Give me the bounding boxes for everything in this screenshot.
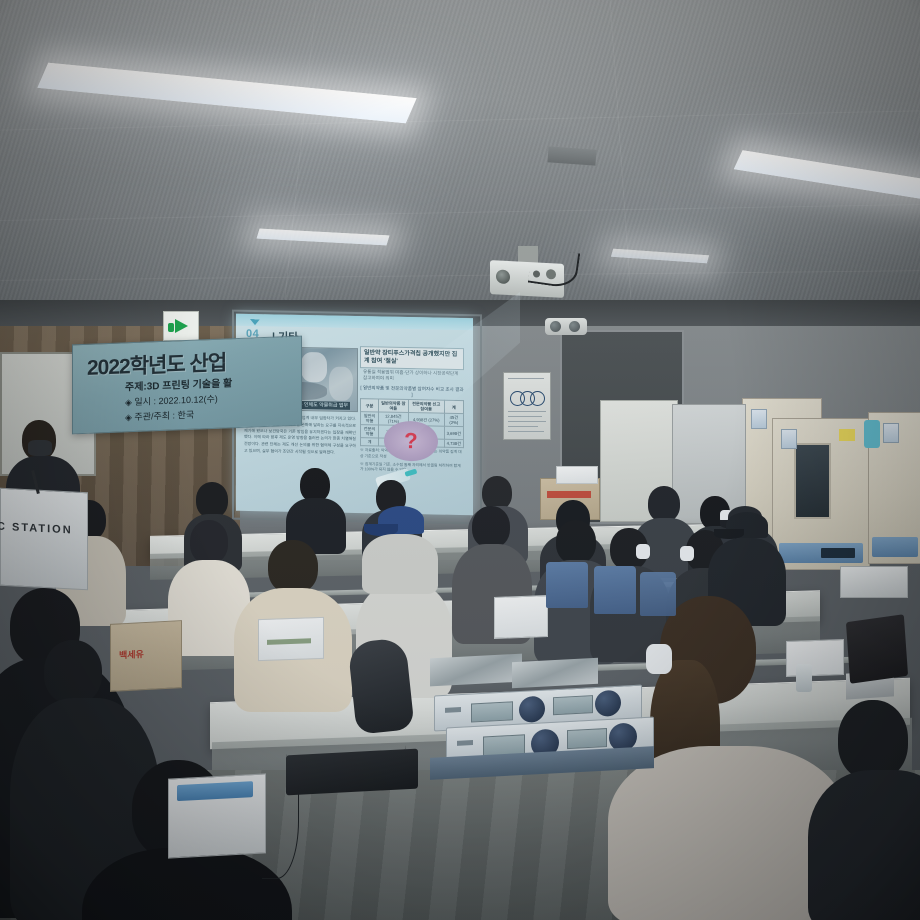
tablet[interactable] [846, 614, 908, 684]
chair-1[interactable] [546, 562, 588, 608]
podium-label: C STATION [0, 521, 73, 537]
bench-appliance [168, 773, 266, 858]
appliance-label [177, 781, 253, 801]
laptop-dark [286, 749, 418, 796]
presenter-mask [28, 440, 52, 456]
chair-2[interactable] [594, 566, 636, 614]
slide-marker-icon [250, 319, 260, 325]
event-banner: 2022학년도 산업 주제:3D 프린팅 기술을 활 ◈ 일시 : 2022.1… [72, 336, 302, 435]
foil-tray-1 [430, 654, 522, 687]
chair-3[interactable] [640, 572, 676, 616]
tissue-box-center [494, 595, 548, 639]
emergency-exit-icon [163, 311, 199, 341]
cardboard-box-label: 백세유 [119, 647, 144, 661]
banner-host: ◈ 주관/주최 : 한국 [125, 408, 194, 424]
banner-subject: 주제:3D 프린팅 기술을 활 [125, 374, 232, 393]
ceiling-vent [548, 146, 597, 165]
balance-scale [840, 566, 908, 598]
cell: 4,738건 [444, 440, 463, 448]
seminar-room-photo: 04 | 기타 의약품 정식 표기 없어 - 인체도 약물취급 업무 수행 일반… [0, 0, 920, 920]
banner-date: ◈ 일시 : 2022.10.12(수) [125, 392, 218, 409]
foil-tray-2 [512, 658, 598, 689]
tissue-box-left [258, 617, 324, 661]
wall-control-box [864, 420, 880, 448]
cardboard-box: 백세유 [110, 620, 182, 692]
bottle-on-bench [796, 664, 812, 692]
lab-incubator-center [772, 418, 870, 570]
cell: 3,698건 [444, 427, 463, 440]
emergency-light [545, 318, 587, 335]
tissue-box-right [786, 639, 844, 677]
tissue-box-back [556, 466, 598, 484]
safety-poster [503, 372, 551, 440]
podium: C STATION [0, 488, 88, 591]
cell: 45건 (2%) [444, 413, 463, 426]
projector-lens [496, 269, 510, 284]
